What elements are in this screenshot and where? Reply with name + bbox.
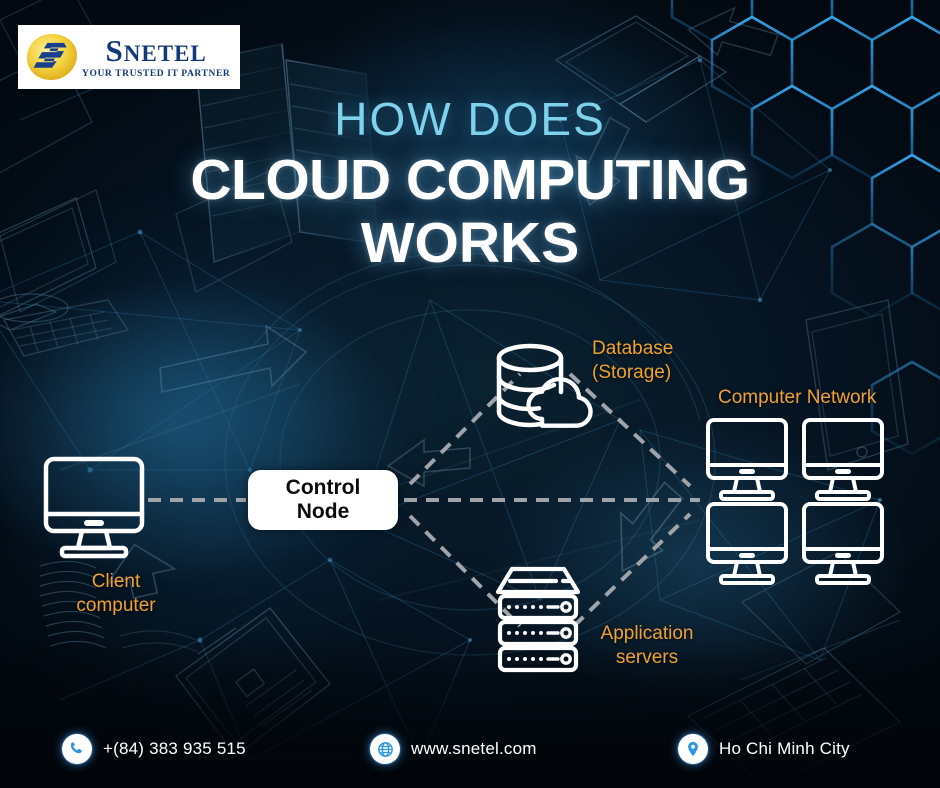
footer-phone-text: +(84) 383 935 515 (103, 739, 246, 759)
server-rack-icon (498, 569, 578, 670)
connector-servers-to-network (574, 514, 690, 626)
label-database: Database (Storage) (592, 337, 673, 385)
connector-control-to-servers (410, 516, 520, 626)
title-line-1: HOW DOES (0, 96, 940, 142)
monitor-grid-icon (708, 420, 882, 583)
connector-lines (148, 374, 700, 626)
desktop-monitor-icon (46, 459, 142, 556)
logo-tagline: YOUR TRUSTED IT PARTNER (82, 69, 230, 79)
globe-icon (370, 734, 400, 764)
control-node-box[interactable]: ControlNode (248, 470, 398, 530)
title-line-3: WORKS (0, 213, 940, 274)
network-monitor-3 (708, 504, 786, 583)
network-monitor-1 (708, 420, 786, 499)
label-client-computer: Client computer (46, 570, 186, 618)
label-application-servers: Application servers (597, 622, 697, 670)
database-cloud-icon (499, 346, 591, 426)
phone-icon (62, 734, 92, 764)
title-line-2: CLOUD COMPUTING (0, 150, 940, 211)
footer-website[interactable]: www.snetel.com (370, 726, 537, 772)
control-node-label: ControlNode (286, 476, 361, 523)
footer-contact-bar: +(84) 383 935 515 www.snetel.com Ho Chi … (0, 726, 940, 772)
connector-control-to-database (410, 374, 520, 484)
label-computer-network: Computer Network (718, 386, 876, 410)
connector-database-to-network (570, 374, 690, 486)
footer-location[interactable]: Ho Chi Minh City (678, 726, 850, 772)
footer-website-text: www.snetel.com (411, 739, 537, 759)
footer-location-text: Ho Chi Minh City (719, 739, 850, 759)
brand-logo: SNETEL YOUR TRUSTED IT PARTNER (18, 25, 240, 89)
snetel-s-monogram-icon (24, 31, 80, 83)
logo-wordmark: SNETEL (106, 35, 207, 66)
footer-phone[interactable]: +(84) 383 935 515 (62, 726, 246, 772)
network-monitor-4 (804, 504, 882, 583)
map-pin-icon (678, 734, 708, 764)
page-title: HOW DOES CLOUD COMPUTING WORKS (0, 96, 940, 274)
network-monitor-2 (804, 420, 882, 499)
infographic-canvas: SNETEL YOUR TRUSTED IT PARTNER HOW DOES … (0, 0, 940, 788)
